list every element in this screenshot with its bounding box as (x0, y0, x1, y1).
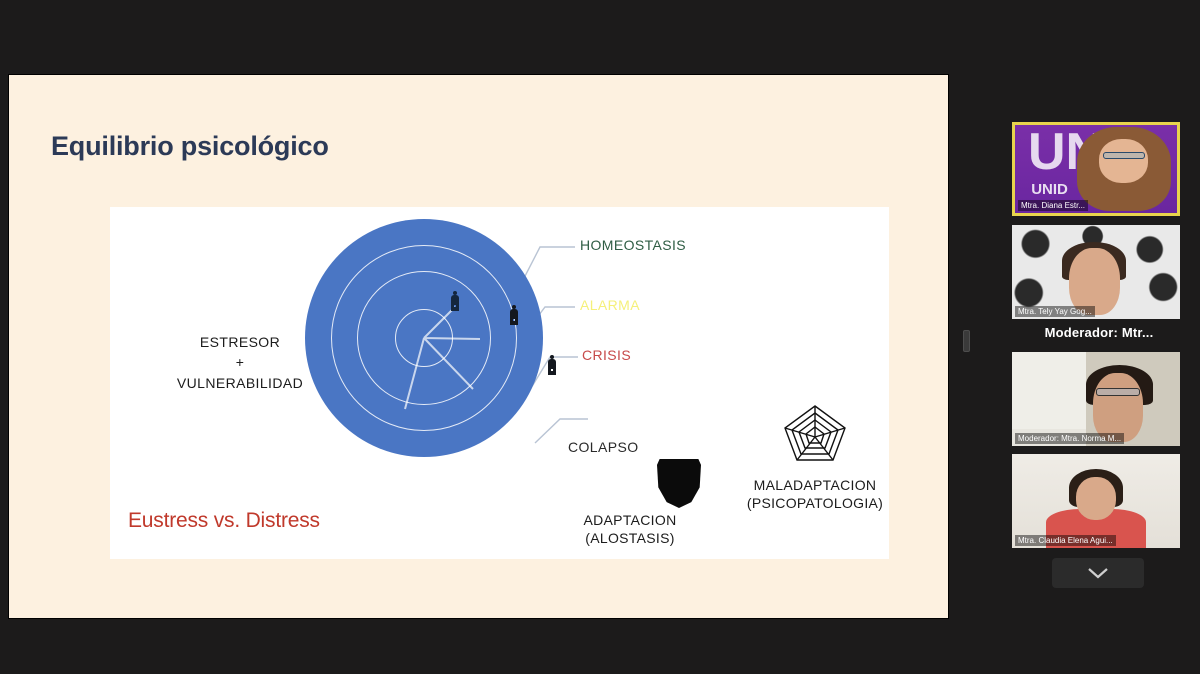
concentric-target (305, 219, 543, 457)
label-maladaptacion-line1: MALADAPTACION (710, 477, 920, 495)
shield-icon (657, 459, 701, 508)
participant-name: Mtra. Tely Yay Gog... (1015, 306, 1095, 317)
avatar-face (1076, 477, 1116, 520)
participant-name: Moderador: Mtra. Norma M... (1015, 433, 1124, 444)
participant-thumbnail[interactable]: Mtra. Tely Yay Gog... (1012, 225, 1180, 319)
moderator-label: Moderador: Mtr... (1006, 325, 1192, 340)
chevron-down-icon (1087, 567, 1109, 579)
participant-thumbnail[interactable]: Mtra. Claudia Elena Agui... (1012, 454, 1180, 548)
shared-slide[interactable]: Equilibrio psicológico (8, 74, 949, 619)
label-adaptacion: ADAPTACION (ALOSTASIS) (540, 512, 720, 548)
wall-panel (1012, 352, 1086, 429)
glasses-icon (1103, 152, 1145, 159)
glasses-icon (1096, 388, 1140, 396)
label-plus: + (140, 352, 340, 372)
diagram-canvas: HOMEOSTASIS ALARMA CRISIS COLAPSO ADAPTA… (110, 207, 889, 559)
avatar-face (1099, 139, 1148, 183)
participant-name: Mtra. Diana Estr... (1018, 200, 1088, 211)
participant-thumbnail[interactable]: UN UNID Mtra. Diana Estr... (1012, 122, 1180, 216)
panel-resize-handle[interactable] (963, 330, 970, 352)
participant-name: Mtra. Claudia Elena Agui... (1015, 535, 1116, 546)
avatar-face (1093, 373, 1143, 443)
person-figure-icon (510, 305, 518, 325)
participant-thumbnail[interactable]: Moderador: Mtra. Norma M... (1012, 352, 1180, 446)
label-eustress-distress: Eustress vs. Distress (128, 509, 320, 533)
label-estresor-vulnerabilidad: ESTRESOR + VULNERABILIDAD (140, 332, 340, 393)
scroll-down-button[interactable] (1052, 558, 1144, 588)
label-maladaptacion-line2: (PSICOPATOLOGIA) (710, 495, 920, 513)
person-figure-icon (548, 355, 556, 375)
unid-logo-subtext: UNID (1031, 181, 1068, 198)
label-adaptacion-line2: (ALOSTASIS) (540, 530, 720, 548)
target-spiral (305, 219, 543, 457)
shield-group (600, 207, 720, 559)
spider-web-icon (782, 403, 848, 463)
label-estresor: ESTRESOR (140, 332, 340, 352)
person-figure-icon (451, 291, 459, 311)
label-adaptacion-line1: ADAPTACION (540, 512, 720, 530)
label-vulnerabilidad: VULNERABILIDAD (140, 373, 340, 393)
label-maladaptacion: MALADAPTACION (PSICOPATOLOGIA) (710, 477, 920, 513)
participant-video-panel: UN UNID Mtra. Diana Estr... Mtra. Tely Y… (1006, 122, 1192, 582)
screen-root: Equilibrio psicológico (0, 0, 1200, 674)
page-title: Equilibrio psicológico (51, 131, 329, 162)
